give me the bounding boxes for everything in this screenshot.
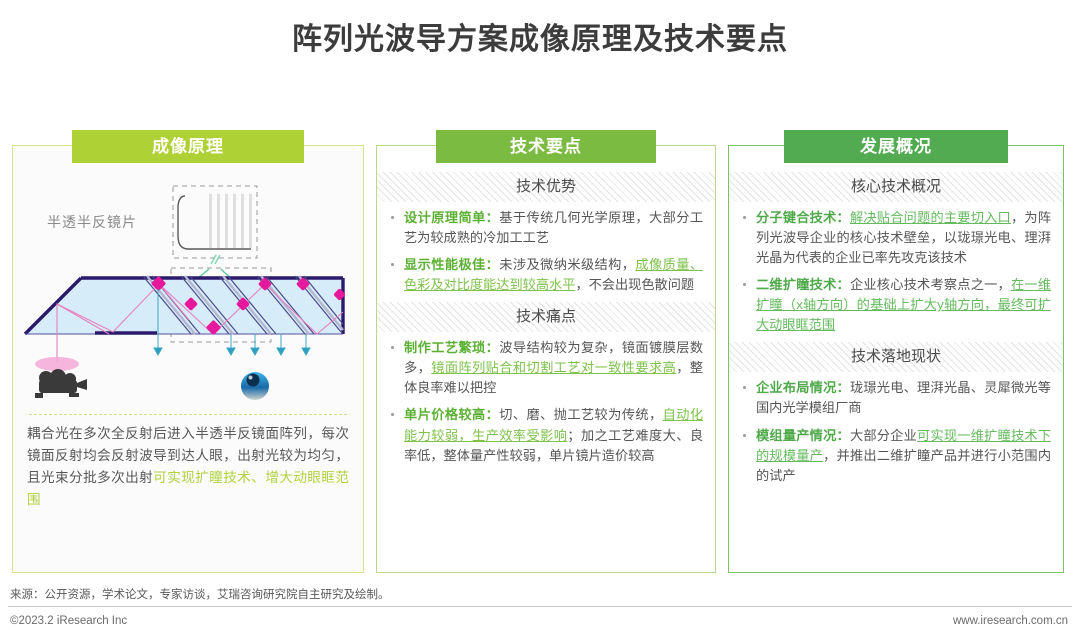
bullet-item: 模组量产情况：大部分企业可实现一维扩瞳技术下的规模量产，并推出二维扩瞳产品并进行… [739,426,1051,486]
bullet-item: 单片价格较高：切、磨、抛工艺较为传统，自动化能力较弱，生产效率受影响；加之工艺难… [387,405,703,465]
bullet-term: 设计原理简单： [404,210,499,225]
column-3-body: 核心技术概况 分子键合技术：解决贴合问题的主要切入口，为阵列光波导企业的核心技术… [729,146,1063,572]
column-development-overview: 发展概况 核心技术概况 分子键合技术：解决贴合问题的主要切入口，为阵列光波导企业… [728,145,1064,573]
bullet-term: 模组量产情况： [756,428,850,443]
imaging-principle-caption: 耦合光在多次全反射后进入半透半反镜面阵列，每次镜面反射均会反射波导到达人眼，出射… [27,423,349,519]
slide-root: 阵列光波导方案成像原理及技术要点 成像原理 半透半反镜片 [0,0,1080,641]
bullet-item: 企业布局情况：珑璟光电、理湃光晶、灵犀微光等国内光学模组厂商 [739,378,1051,418]
bullet-text: 切、磨、抛工艺较为传统， [499,407,662,422]
section-head-core-tech: 核心技术概况 [729,172,1063,202]
bullet-term: 二维扩瞳技术： [756,277,850,292]
bullet-term: 制作工艺繁琐： [404,340,499,355]
column-imaging-principle: 成像原理 半透半反镜片 [12,145,364,573]
caption-divider [29,414,347,415]
bullet-text: 大部分企业 [850,428,917,443]
copyright-text: ©2023.2 iResearch Inc [10,615,127,627]
bullet-term: 显示性能极佳： [404,257,499,272]
bullet-highlight: 解决贴合问题的主要切入口 [850,210,1011,225]
column-1-body: 半透半反镜片 [13,146,363,572]
bullet-list-painpoints: 制作工艺繁琐：波导结构较为复杂，镜面镀膜层数多，镜面阵列贴合和切割工艺对一致性要… [377,338,715,465]
column-1-header: 成像原理 [72,130,304,163]
projector-icon [35,357,87,398]
bullet-item: 二维扩瞳技术：企业核心技术考察点之一，在一维扩瞳（x轴方向）的基础上扩大y轴方向… [739,275,1051,335]
column-3-header: 发展概况 [784,130,1008,163]
footer-divider [8,606,1072,607]
bullet-text: ，不会出现色散问题 [575,277,694,292]
section-head-advantages: 技术优势 [377,172,715,202]
bullet-list-core-tech: 分子键合技术：解决贴合问题的主要切入口，为阵列光波导企业的核心技术壁垒，以珑璟光… [729,208,1063,335]
bullet-item: 设计原理简单：基于传统几何光学原理，大部分工艺为较成熟的冷加工工艺 [387,208,703,248]
page-title: 阵列光波导方案成像原理及技术要点 [0,14,1080,58]
bullet-term: 分子键合技术： [756,210,850,225]
bullet-highlight: 镜面阵列贴合和切割工艺对一致性要求高 [431,360,676,375]
eye-icon [241,372,269,400]
columns-container: 成像原理 半透半反镜片 [12,145,1068,573]
bullet-term: 单片价格较高： [404,407,499,422]
caption-wrapper: 耦合光在多次全反射后进入半透半反镜面阵列，每次镜面反射均会反射波导到达人眼，出射… [13,414,363,519]
bullet-text: 企业核心技术考察点之一， [850,277,1011,292]
diagram-label: 半透半反镜片 [47,212,137,232]
column-2-body: 技术优势 设计原理简单：基于传统几何光学原理，大部分工艺为较成熟的冷加工工艺显示… [377,146,715,572]
section-head-landing-status: 技术落地现状 [729,342,1063,372]
bullet-list-advantages: 设计原理简单：基于传统几何光学原理，大部分工艺为较成熟的冷加工工艺显示性能极佳：… [377,208,715,295]
website-text: www.iresearch.com.cn [953,615,1068,627]
bullet-item: 显示性能极佳：未涉及微纳米级结构，成像质量、色彩及对比度能达到较高水平，不会出现… [387,255,703,295]
bullet-term: 企业布局情况： [756,380,850,395]
bullet-item: 分子键合技术：解决贴合问题的主要切入口，为阵列光波导企业的核心技术壁垒，以珑璟光… [739,208,1051,268]
source-note: 来源：公开资源，学术论文，专家访谈，艾瑞咨询研究院自主研究及绘制。 [10,586,390,602]
column-technical-points: 技术要点 技术优势 设计原理简单：基于传统几何光学原理，大部分工艺为较成熟的冷加… [376,145,716,573]
waveguide-svg [13,172,363,410]
bullet-item: 制作工艺繁琐：波导结构较为复杂，镜面镀膜层数多，镜面阵列贴合和切割工艺对一致性要… [387,338,703,398]
column-2-header: 技术要点 [436,130,656,163]
bullet-list-landing-status: 企业布局情况：珑璟光电、理湃光晶、灵犀微光等国内光学模组厂商模组量产情况：大部分… [729,378,1063,485]
section-head-painpoints: 技术痛点 [377,302,715,332]
waveguide-diagram: 半透半反镜片 [13,172,363,410]
mirror-array-callout-icon [173,186,257,287]
bullet-text: 未涉及微纳米级结构， [499,257,635,272]
